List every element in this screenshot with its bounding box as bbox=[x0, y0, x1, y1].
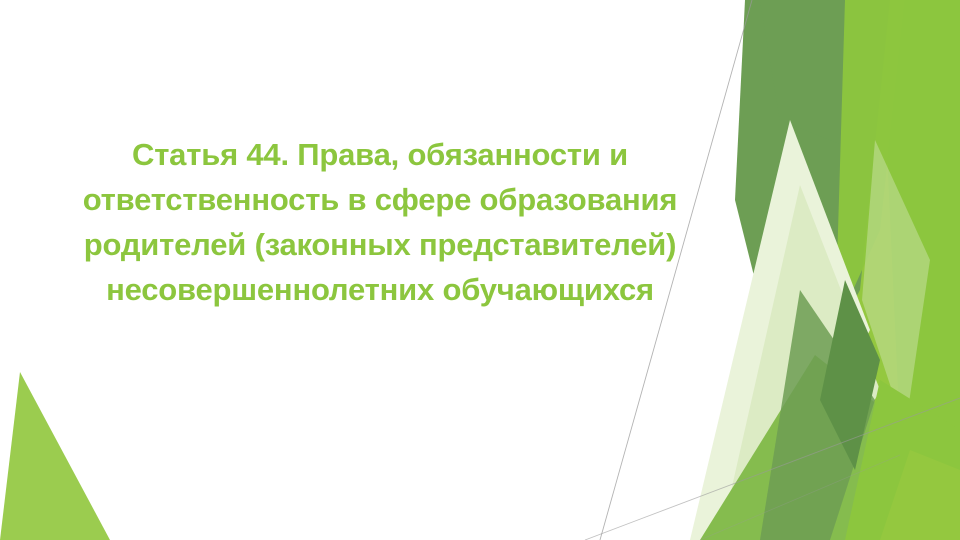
facet-shape-bright-band bbox=[880, 0, 960, 540]
hairline-short-diagonal bbox=[700, 455, 900, 540]
facet-shape-dark-large bbox=[735, 0, 890, 420]
facet-shape-light-sweep bbox=[700, 355, 960, 540]
title-placeholder: Статья 44. Права, обязанности и ответств… bbox=[30, 132, 730, 312]
facet-shape-mid-wedge bbox=[835, 0, 905, 330]
facet-shape-deep-spike bbox=[820, 280, 880, 470]
page-title: Статья 44. Права, обязанности и ответств… bbox=[30, 132, 730, 312]
facet-shape-bottom-corner bbox=[880, 450, 960, 540]
facet-shape-pale-right bbox=[862, 140, 930, 430]
facet-shape-dark-upper bbox=[760, 0, 870, 150]
facet-shape-bottom-right bbox=[845, 380, 960, 540]
presentation-slide: Статья 44. Права, обязанности и ответств… bbox=[0, 0, 960, 540]
facet-shape-bottom-left-wedge bbox=[0, 372, 110, 540]
facet-shape-pale-mid bbox=[720, 185, 880, 540]
facet-shape-right-base bbox=[790, 0, 960, 540]
facet-shape-dark-lower bbox=[760, 290, 875, 540]
hairline-long-diagonal bbox=[585, 398, 960, 540]
